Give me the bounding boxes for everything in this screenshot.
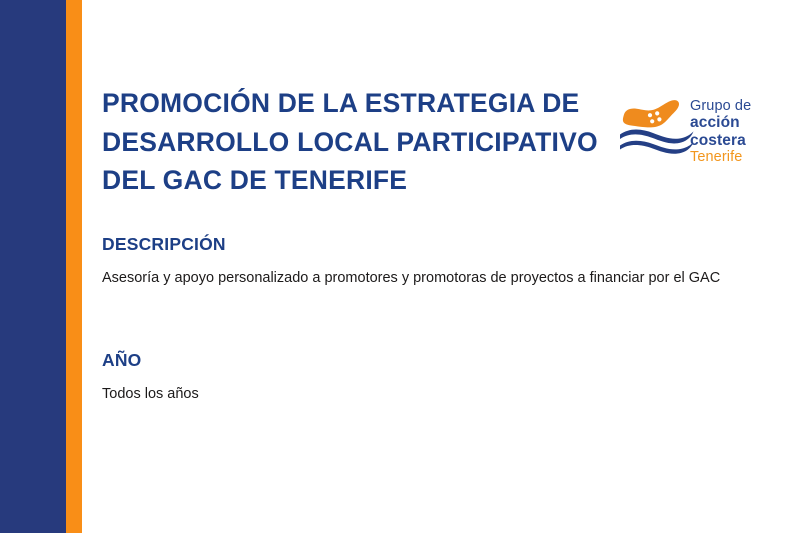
gac-tenerife-logo: Grupo de acción costera Tenerife	[618, 96, 798, 156]
logo-text-line-2: acción costera	[690, 114, 798, 149]
section-heading-descripcion: DESCRIPCIÓN	[102, 234, 752, 255]
logo-text-line-3: Tenerife	[690, 149, 798, 165]
slide-canvas: PROMOCIÓN DE LA ESTRATEGIA DE DESARROLLO…	[0, 0, 800, 533]
section-heading-anio: AÑO	[102, 350, 752, 371]
left-accent-bar-orange	[66, 0, 82, 533]
page-title: PROMOCIÓN DE LA ESTRATEGIA DE DESARROLLO…	[102, 84, 612, 200]
tenerife-island-waves-icon	[618, 96, 696, 154]
section-body-anio: Todos los años	[102, 384, 752, 405]
logo-wordmark: Grupo de acción costera Tenerife	[690, 98, 798, 165]
section-body-descripcion: Asesoría y apoyo personalizado a promoto…	[102, 268, 752, 289]
left-accent-bar-navy	[0, 0, 66, 533]
section-descripcion: DESCRIPCIÓN Asesoría y apoyo personaliza…	[102, 234, 752, 289]
slide-content: PROMOCIÓN DE LA ESTRATEGIA DE DESARROLLO…	[102, 0, 800, 533]
title-block: PROMOCIÓN DE LA ESTRATEGIA DE DESARROLLO…	[102, 84, 612, 200]
section-anio: AÑO Todos los años	[102, 350, 752, 405]
logo-text-line-1: Grupo de	[690, 98, 798, 114]
